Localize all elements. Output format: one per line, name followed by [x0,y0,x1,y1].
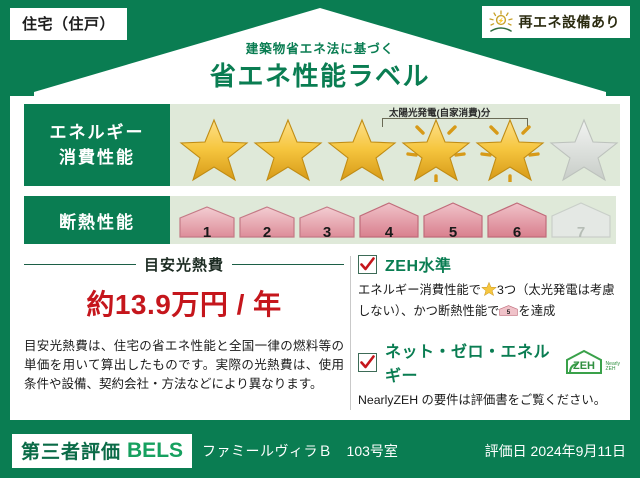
zeh-standard-text: エネルギー消費性能で3つ（太光発電は考慮しない）、かつ断熱性能で5を達成 [358,281,620,324]
utility-cost-value: 約13.9万円 / 年 [24,283,344,323]
insulation-level-5-number: 5 [422,224,484,241]
utility-cost-description: 目安光熱費は、住宅の省エネ性能と全国一律の燃料等の単価を用いて算出したものです。… [24,337,344,394]
star-rating [170,114,620,182]
building-name: ファミールヴィラＢ [202,441,333,461]
column-divider [350,256,351,410]
insulation-performance-row: 断熱性能 1 [24,196,616,244]
room-number: 103号室 [347,441,398,461]
insulation-level-2-number: 2 [238,224,296,241]
energy-performance-row: エネルギー 消費性能 太陽光発電(自家消費)分 [24,104,616,186]
rule-left [24,264,136,266]
label-title: 省エネ性能ラベル [0,56,640,93]
zeh-section: ZEH水準 エネルギー消費性能で3つ（太光発電は考慮しない）、かつ断熱性能で5を… [358,252,620,424]
header-band: 建築物省エネ法に基づく 省エネ性能ラベル 住宅（住戸） ⚡ 再エネ設備あり [0,0,640,96]
star-filled-2 [252,114,324,182]
details-columns: 目安光熱費 約13.9万円 / 年 目安光熱費は、住宅の省エネ性能と全国一律の燃… [10,252,630,420]
evaluation-date: 評価日 2024年9月11日 [485,441,626,461]
net-zero-text: NearlyZEH の要件は評価書をご覧ください。 [358,391,620,410]
zeh-text-part1: エネルギー消費性能で [358,283,481,297]
insulation-level-4-number: 4 [358,224,420,241]
insulation-scale: 1 2 3 [170,196,612,244]
energy-label-line2: 消費性能 [59,145,135,170]
label-subtitle: 建築物省エネ法に基づく [0,38,640,57]
utility-cost-title: 目安光熱費 [144,254,224,275]
inline-star-icon [481,281,497,302]
zeh-logo-sub2: ZEH [606,367,620,372]
zeh-house-logo-icon: ZEH [564,349,604,375]
svg-text:5: 5 [507,309,511,316]
svg-text:ZEH: ZEH [573,360,595,372]
insulation-level-3-number: 3 [298,224,356,241]
star-filled-1 [178,114,250,182]
star-solar-5 [474,114,546,182]
zeh-text-part3: を達成 [518,304,555,318]
check-icon [360,355,375,370]
check-icon [360,257,375,272]
house-type-badge: 住宅（住戸） [10,8,127,40]
insulation-level-4: 4 [358,201,420,244]
net-zero-checkbox[interactable] [358,353,377,372]
utility-cost-heading: 目安光熱費 [24,254,344,275]
insulation-levels-area: 1 2 3 [170,196,616,244]
insulation-level-5: 5 [422,201,484,244]
third-party-eval-label: 第三者評価 [21,437,121,464]
insulation-level-2: 2 [238,205,296,244]
energy-stars-area: 太陽光発電(自家消費)分 [170,104,620,186]
zeh-standard-block: ZEH水準 エネルギー消費性能で3つ（太光発電は考慮しない）、かつ断熱性能で5を… [358,252,620,324]
zeh-standard-checkbox[interactable] [358,255,377,274]
energy-label-line1: エネルギー [50,120,145,145]
zeh-logo: ZEH Nearly ZEH [564,349,620,375]
insulation-level-1-number: 1 [178,224,236,241]
zeh-standard-heading: ZEH水準 [358,252,620,276]
rule-right [232,264,344,266]
net-zero-block: ネット・ゼロ・エネルギー ZEH Nearly ZEH [358,338,620,410]
insulation-level-6-number: 6 [486,224,548,241]
insulation-performance-label: 断熱性能 [24,196,170,244]
inline-house-badge: 5 [499,303,518,324]
label-body-panel: エネルギー 消費性能 太陽光発電(自家消費)分 [10,96,630,420]
svg-text:⚡: ⚡ [497,18,504,25]
utility-cost-section: 目安光熱費 約13.9万円 / 年 目安光熱費は、住宅の省エネ性能と全国一律の燃… [24,252,344,394]
insulation-level-6: 6 [486,201,548,244]
bels-logo-text: BELS [127,439,183,463]
sun-icon: ⚡ [488,10,514,34]
renewable-equipment-badge: ⚡ 再エネ設備あり [482,6,631,38]
star-filled-3 [326,114,398,182]
zeh-text-star-count: 3つ（太 [497,283,541,297]
star-solar-4 [400,114,472,182]
evaluation-date-value: 2024年9月11日 [531,443,626,459]
energy-label-root: 建築物省エネ法に基づく 省エネ性能ラベル 住宅（住戸） ⚡ 再エネ設備あり [0,0,640,478]
bels-evaluation-badge: 第三者評価 BELS [12,434,192,468]
insulation-level-3: 3 [298,205,356,244]
zeh-standard-title: ZEH水準 [385,252,452,276]
renewable-badge-label: 再エネ設備あり [519,12,621,32]
evaluation-date-label: 評価日 [485,443,527,459]
insulation-level-1: 1 [178,205,236,244]
energy-performance-label: エネルギー 消費性能 [24,104,170,186]
star-empty-6 [548,114,620,182]
net-zero-heading: ネット・ゼロ・エネルギー ZEH Nearly ZEH [358,338,620,386]
net-zero-title: ネット・ゼロ・エネルギー [385,338,552,386]
footer-bar: 第三者評価 BELS ファミールヴィラＢ 103号室 評価日 2024年9月11… [0,424,640,478]
insulation-level-7: 7 [550,201,612,244]
insulation-level-7-number: 7 [550,224,612,241]
